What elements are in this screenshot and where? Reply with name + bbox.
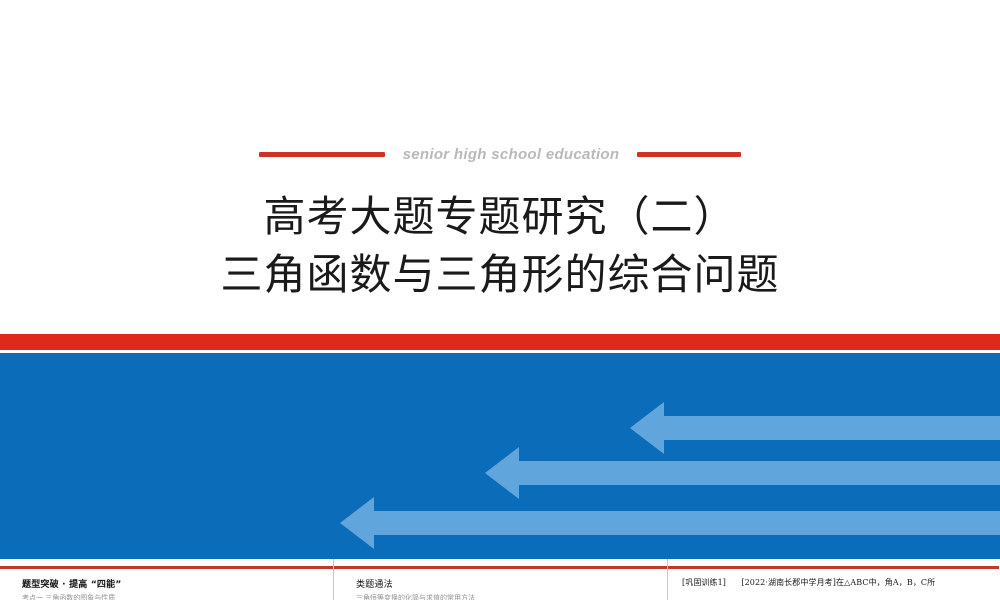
title-line-primary: 高考大题专题研究（二）	[0, 188, 1000, 246]
red-divider-band	[0, 334, 1000, 350]
thumbnail-slide-1[interactable]: 题型突破 · 提高 “四能” 考点一 三角函数的图象与性质	[0, 559, 333, 600]
title-line-secondary: 三角函数与三角形的综合问题	[0, 246, 1000, 304]
arrow-left-middle-icon	[485, 447, 1000, 499]
eyebrow-row: senior high school education	[0, 140, 1000, 168]
thumbnail-3-body: [巩固训练1] [2022·湖南长郡中学月考]在△ABC中，角A，B，C所	[668, 569, 999, 600]
page-title: 高考大题专题研究（二） 三角函数与三角形的综合问题	[0, 188, 1000, 304]
thumbnail-1-heading: 题型突破 · 提高 “四能”	[22, 577, 311, 590]
thumbnail-slide-3[interactable]: [巩固训练1] [2022·湖南长郡中学月考]在△ABC中，角A，B，C所	[668, 559, 999, 600]
eyebrow-label: senior high school education	[403, 146, 620, 163]
thumbnail-2-subtext: 三角恒等变换的化简与求值的常用方法	[356, 593, 645, 600]
thumbnail-1-body: 题型突破 · 提高 “四能” 考点一 三角函数的图象与性质	[0, 569, 333, 600]
slide-hero: senior high school education 高考大题专题研究（二）…	[0, 0, 1000, 334]
slide-thumbnail-strip: 题型突破 · 提高 “四能” 考点一 三角函数的图象与性质 类题通法 三角恒等变…	[0, 559, 1000, 600]
eyebrow-rule-right	[637, 152, 741, 157]
arrow-left-bottom-icon	[340, 497, 1000, 549]
thumbnail-2-body: 类题通法 三角恒等变换的化简与求值的常用方法	[334, 569, 667, 600]
thumbnail-slide-2[interactable]: 类题通法 三角恒等变换的化简与求值的常用方法	[333, 559, 668, 600]
thumbnail-3-tag: [巩固训练1]	[682, 578, 726, 587]
blue-arrow-panel	[0, 353, 1000, 559]
thumbnail-2-heading: 类题通法	[356, 577, 645, 590]
presentation-slide: senior high school education 高考大题专题研究（二）…	[0, 0, 1000, 600]
thumbnail-3-line: [巩固训练1] [2022·湖南长郡中学月考]在△ABC中，角A，B，C所	[682, 577, 993, 588]
thumbnail-3-question: [2022·湖南长郡中学月考]在△ABC中，角A，B，C所	[741, 578, 935, 587]
eyebrow-rule-left	[259, 152, 385, 157]
thumbnail-1-subtext: 考点一 三角函数的图象与性质	[22, 593, 311, 600]
